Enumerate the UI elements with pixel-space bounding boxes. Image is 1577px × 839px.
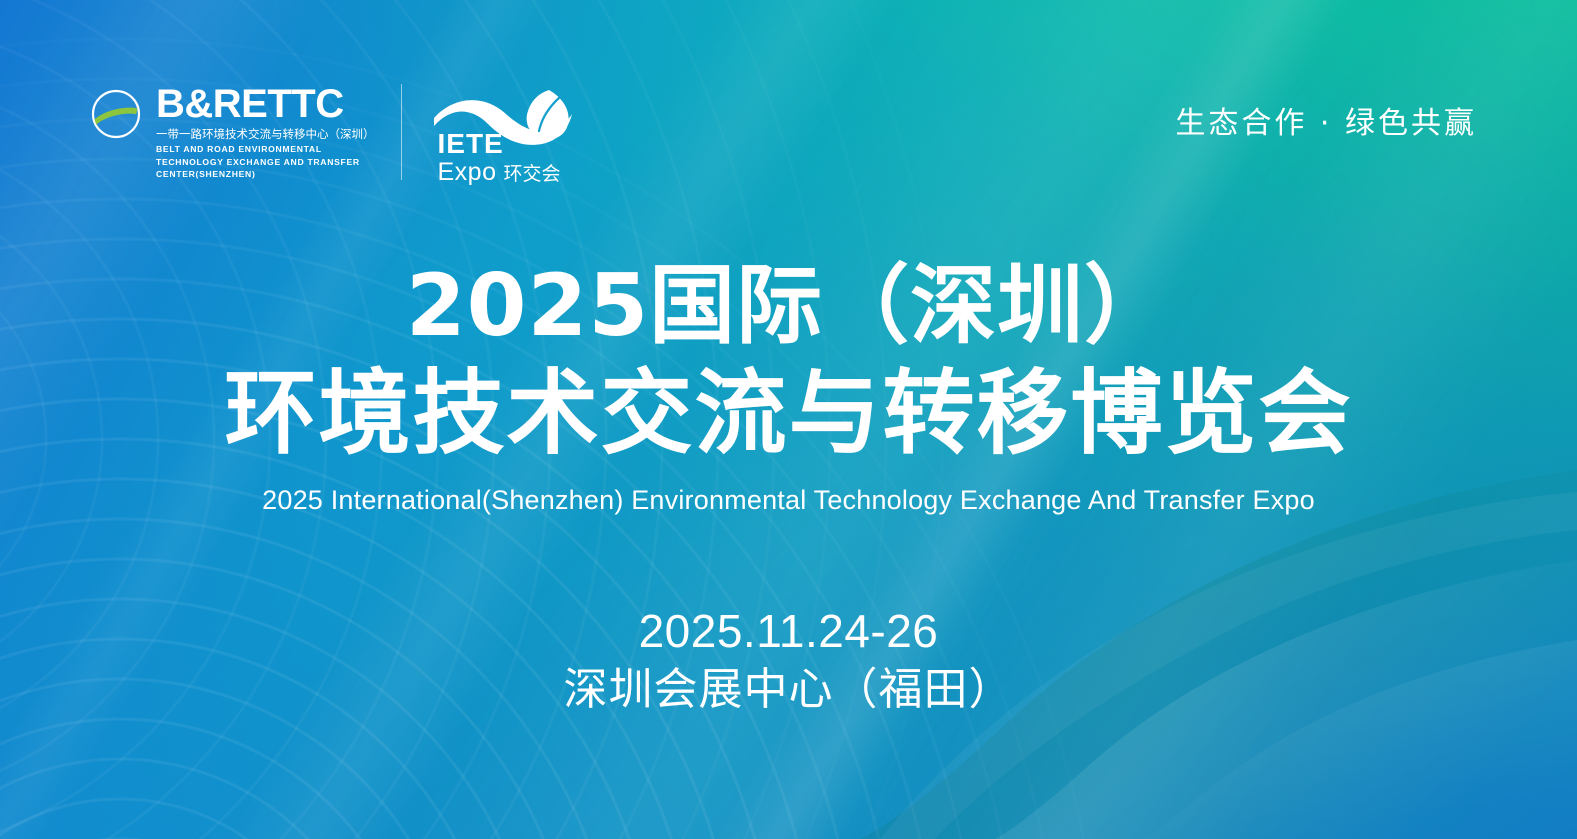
logo-row: B&RETTC 一带一路环境技术交流与转移中心（深圳） BELT AND ROA… (88, 84, 592, 189)
headline-block: 2025国际（深圳） 环境技术交流与转移博览会 2025 Internation… (0, 258, 1577, 518)
iete-acronym: IETE (438, 130, 561, 158)
slogan: 生态合作 · 绿色共赢 (1175, 104, 1477, 144)
event-meta-block: 2025.11.24-26 深圳会展中心（福田） (0, 602, 1577, 720)
brettc-english-line-3: CENTER(SHENZHEN) (156, 169, 375, 180)
title-line-1: 2025国际（深圳） (0, 258, 1577, 354)
iete-text-block: IETE Expo 环交会 (438, 130, 561, 188)
iete-expo-logo[interactable]: IETE Expo 环交会 (432, 84, 592, 189)
globe-belt-icon (88, 86, 148, 142)
event-date: 2025.11.24-26 (0, 602, 1577, 660)
brettc-wordmark: B&RETTC (156, 84, 375, 124)
expo-poster: B&RETTC 一带一路环境技术交流与转移中心（深圳） BELT AND ROA… (0, 0, 1577, 839)
brettc-logo[interactable]: B&RETTC 一带一路环境技术交流与转移中心（深圳） BELT AND ROA… (88, 84, 402, 180)
brettc-english-line-2: TECHNOLOGY EXCHANGE AND TRANSFER (156, 157, 375, 168)
poster-content: B&RETTC 一带一路环境技术交流与转移中心（深圳） BELT AND ROA… (0, 0, 1577, 839)
iete-chinese-short: 环交会 (503, 161, 560, 188)
brettc-text-block: B&RETTC 一带一路环境技术交流与转移中心（深圳） BELT AND ROA… (156, 84, 375, 180)
brettc-chinese-name: 一带一路环境技术交流与转移中心（深圳） (156, 127, 375, 142)
brettc-english-line-1: BELT AND ROAD ENVIRONMENTAL (156, 144, 375, 155)
title-english: 2025 International(Shenzhen) Environment… (0, 482, 1577, 518)
event-venue: 深圳会展中心（福田） (0, 660, 1577, 720)
title-line-2: 环境技术交流与转移博览会 (0, 362, 1577, 466)
iete-expo-word: Expo (438, 159, 497, 186)
